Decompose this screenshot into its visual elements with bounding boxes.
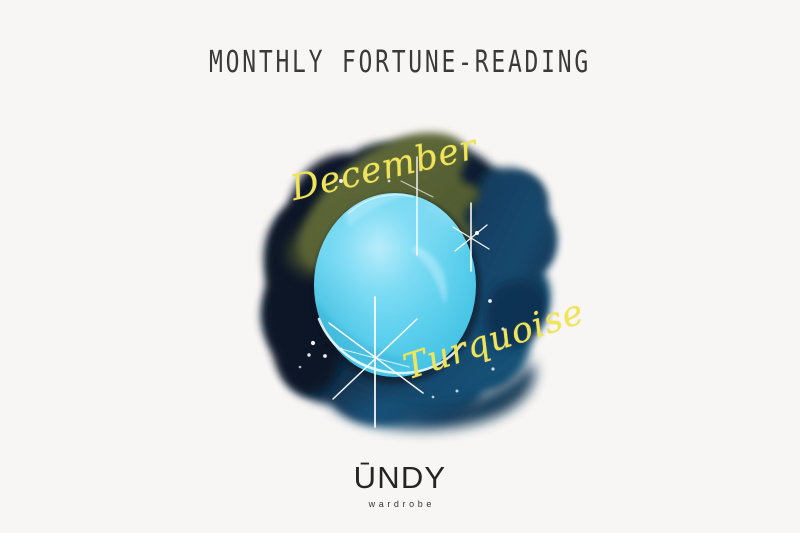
brand-name: ŪNDY <box>0 462 800 494</box>
page-title: MONTHLY FORTUNE-READING <box>32 44 768 79</box>
brand-tagline: wardrobe <box>0 499 800 509</box>
brand-logo: ŪNDY wardrobe <box>0 462 800 509</box>
poster-canvas: MONTHLY FORTUNE-READING <box>0 0 800 533</box>
